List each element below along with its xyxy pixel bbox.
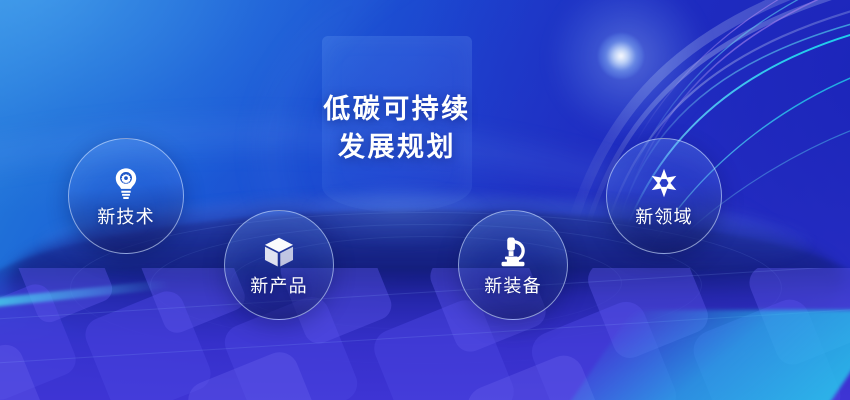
- feature-node-label: 新领域: [635, 207, 693, 227]
- feature-node-label: 新装备: [484, 276, 542, 296]
- page-title: 低碳可持续 发展规划: [272, 90, 522, 166]
- lightbulb-gear-icon: [109, 166, 143, 200]
- microscope-icon: [496, 235, 530, 269]
- feature-node-label: 新产品: [250, 276, 308, 296]
- starburst-petals-icon: [647, 166, 681, 200]
- central-pillar-base-glow: [306, 186, 488, 244]
- feature-node-label: 新技术: [97, 207, 155, 227]
- feature-node-new-field[interactable]: 新领域: [606, 138, 722, 254]
- light-glow-point: [598, 33, 644, 79]
- title-line-1: 低碳可持续: [272, 90, 522, 128]
- feature-node-new-technology[interactable]: 新技术: [68, 138, 184, 254]
- banner-root: 低碳可持续 发展规划: [0, 0, 850, 400]
- feature-node-new-product[interactable]: 新产品: [224, 210, 334, 320]
- perspective-tile-floor: [0, 268, 850, 400]
- cube-box-icon: [262, 235, 296, 269]
- feature-node-new-equipment[interactable]: 新装备: [458, 210, 568, 320]
- title-line-2: 发展规划: [272, 128, 522, 166]
